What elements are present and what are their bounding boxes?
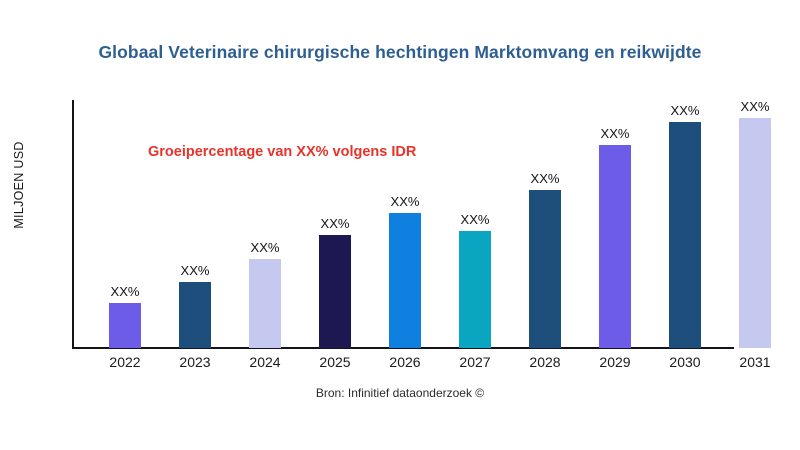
bar-rect[interactable]	[389, 213, 421, 348]
bar-2026[interactable]: XX%	[389, 213, 421, 348]
bar-value-label: XX%	[235, 240, 295, 255]
x-tick-label-2023: 2023	[165, 354, 225, 370]
bar-rect[interactable]	[599, 145, 631, 348]
bar-2029[interactable]: XX%	[599, 145, 631, 348]
bar-2031[interactable]: XX%	[739, 118, 771, 348]
bar-rect[interactable]	[249, 259, 281, 348]
bar-2027[interactable]: XX%	[459, 231, 491, 348]
x-tick-label-2027: 2027	[445, 354, 505, 370]
x-tick-label-2022: 2022	[95, 354, 155, 370]
bar-value-label: XX%	[585, 126, 645, 141]
bar-value-label: XX%	[515, 171, 575, 186]
bar-rect[interactable]	[459, 231, 491, 348]
bar-value-label: XX%	[95, 284, 155, 299]
bar-value-label: XX%	[655, 103, 715, 118]
bar-value-label: XX%	[165, 263, 225, 278]
bar-value-label: XX%	[375, 194, 435, 209]
x-tick-label-2030: 2030	[655, 354, 715, 370]
bar-rect[interactable]	[529, 190, 561, 348]
plot-area: XX%2022XX%2023XX%2024XX%2025XX%2026XX%20…	[0, 0, 800, 450]
bar-value-label: XX%	[305, 216, 365, 231]
bar-value-label: XX%	[445, 212, 505, 227]
x-tick-label-2024: 2024	[235, 354, 295, 370]
bar-2022[interactable]: XX%	[109, 303, 141, 348]
bar-rect[interactable]	[669, 122, 701, 348]
bar-2030[interactable]: XX%	[669, 122, 701, 348]
bar-2023[interactable]: XX%	[179, 282, 211, 348]
bar-rect[interactable]	[109, 303, 141, 348]
source-caption: Bron: Infinitief dataonderzoek ©	[0, 386, 800, 400]
bar-2025[interactable]: XX%	[319, 235, 351, 348]
growth-rate-annotation: Groeipercentage van XX% volgens IDR	[148, 144, 416, 160]
bar-2028[interactable]: XX%	[529, 190, 561, 348]
x-tick-label-2031: 2031	[725, 354, 785, 370]
bar-rect[interactable]	[179, 282, 211, 348]
bar-value-label: XX%	[725, 99, 785, 114]
bar-rect[interactable]	[319, 235, 351, 348]
x-tick-label-2029: 2029	[585, 354, 645, 370]
x-tick-label-2025: 2025	[305, 354, 365, 370]
x-tick-label-2028: 2028	[515, 354, 575, 370]
x-tick-label-2026: 2026	[375, 354, 435, 370]
bar-rect[interactable]	[739, 118, 771, 348]
bar-2024[interactable]: XX%	[249, 259, 281, 348]
chart-container: Globaal Veterinaire chirurgische hechtin…	[0, 0, 800, 450]
